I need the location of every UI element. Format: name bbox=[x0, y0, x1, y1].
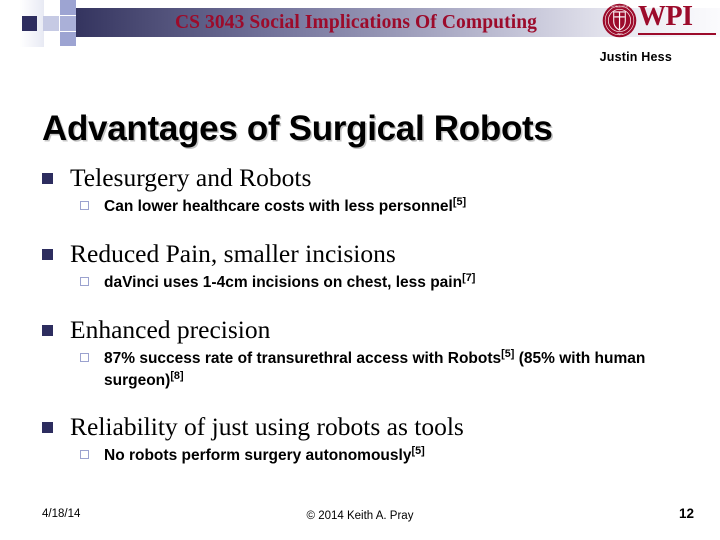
bullet-level2-text: Can lower healthcare costs with less per… bbox=[104, 198, 453, 215]
bullet-square-icon bbox=[42, 249, 53, 260]
decorative-square-1 bbox=[60, 0, 76, 15]
sub-bullet-square-icon bbox=[80, 201, 89, 210]
citation-ref-secondary: [8] bbox=[170, 370, 183, 382]
wpi-underline bbox=[638, 33, 716, 35]
decorative-square-4 bbox=[60, 32, 76, 46]
presenter-name: Justin Hess bbox=[600, 50, 672, 64]
sub-bullet-square-icon bbox=[80, 450, 89, 459]
bullet-level2: 87% success rate of transurethral access… bbox=[0, 348, 720, 392]
bullet-group-1: Telesurgery and Robots Can lower healthc… bbox=[0, 162, 720, 218]
footer-copyright: © 2014 Keith A. Pray bbox=[0, 510, 720, 522]
bullet-level2: No robots perform surgery autonomously[5… bbox=[0, 445, 720, 467]
bullet-level2: daVinci uses 1-4cm incisions on chest, l… bbox=[0, 272, 720, 294]
bullet-level2: Can lower healthcare costs with less per… bbox=[0, 196, 720, 218]
sub-bullet-square-icon bbox=[80, 353, 89, 362]
page-title: Advantages of Surgical Robots bbox=[42, 109, 553, 149]
bullet-level2-text: daVinci uses 1-4cm incisions on chest, l… bbox=[104, 274, 462, 291]
bullet-level1: Reliability of just using robots as tool… bbox=[0, 411, 720, 442]
bullet-square-icon bbox=[42, 422, 53, 433]
decorative-square-3 bbox=[60, 16, 76, 31]
slide-body: Telesurgery and Robots Can lower healthc… bbox=[0, 156, 720, 467]
bullet-level1-text: Enhanced precision bbox=[70, 315, 270, 344]
bullet-group-4: Reliability of just using robots as tool… bbox=[0, 411, 720, 467]
svg-text:WORCESTER: WORCESTER bbox=[611, 6, 628, 9]
citation-ref: [5] bbox=[453, 196, 466, 208]
citation-ref: [5] bbox=[501, 348, 514, 360]
bullet-group-2: Reduced Pain, smaller incisions daVinci … bbox=[0, 238, 720, 294]
bullet-level1-text: Telesurgery and Robots bbox=[70, 163, 311, 192]
slide-header: CS 3043 Social Implications Of Computing… bbox=[0, 0, 720, 44]
wpi-seal-icon: 1865 WORCESTER bbox=[602, 3, 637, 38]
citation-ref: [5] bbox=[411, 445, 424, 457]
bullet-level1: Enhanced precision bbox=[0, 314, 720, 345]
bullet-group-3: Enhanced precision 87% success rate of t… bbox=[0, 314, 720, 392]
wpi-wordmark: WPI bbox=[638, 2, 693, 32]
sub-bullet-square-icon bbox=[80, 277, 89, 286]
wpi-logo: 1865 WORCESTER WPI bbox=[602, 1, 716, 41]
svg-text:1865: 1865 bbox=[616, 32, 623, 36]
page-number: 12 bbox=[679, 506, 694, 521]
bullet-level1-text: Reliability of just using robots as tool… bbox=[70, 412, 464, 441]
bullet-square-icon bbox=[42, 173, 53, 184]
course-title: CS 3043 Social Implications Of Computing bbox=[76, 8, 636, 37]
bullet-level1: Reduced Pain, smaller incisions bbox=[0, 238, 720, 269]
bullet-square-icon bbox=[42, 325, 53, 336]
bullet-level1-text: Reduced Pain, smaller incisions bbox=[70, 239, 396, 268]
bullet-level2-text: 87% success rate of transurethral access… bbox=[104, 350, 501, 367]
bullet-level2-text: No robots perform surgery autonomously bbox=[104, 447, 411, 464]
citation-ref: [7] bbox=[462, 272, 475, 284]
decorative-square-2 bbox=[43, 16, 59, 31]
decorative-square-navy bbox=[22, 16, 37, 31]
bullet-level1: Telesurgery and Robots bbox=[0, 162, 720, 193]
